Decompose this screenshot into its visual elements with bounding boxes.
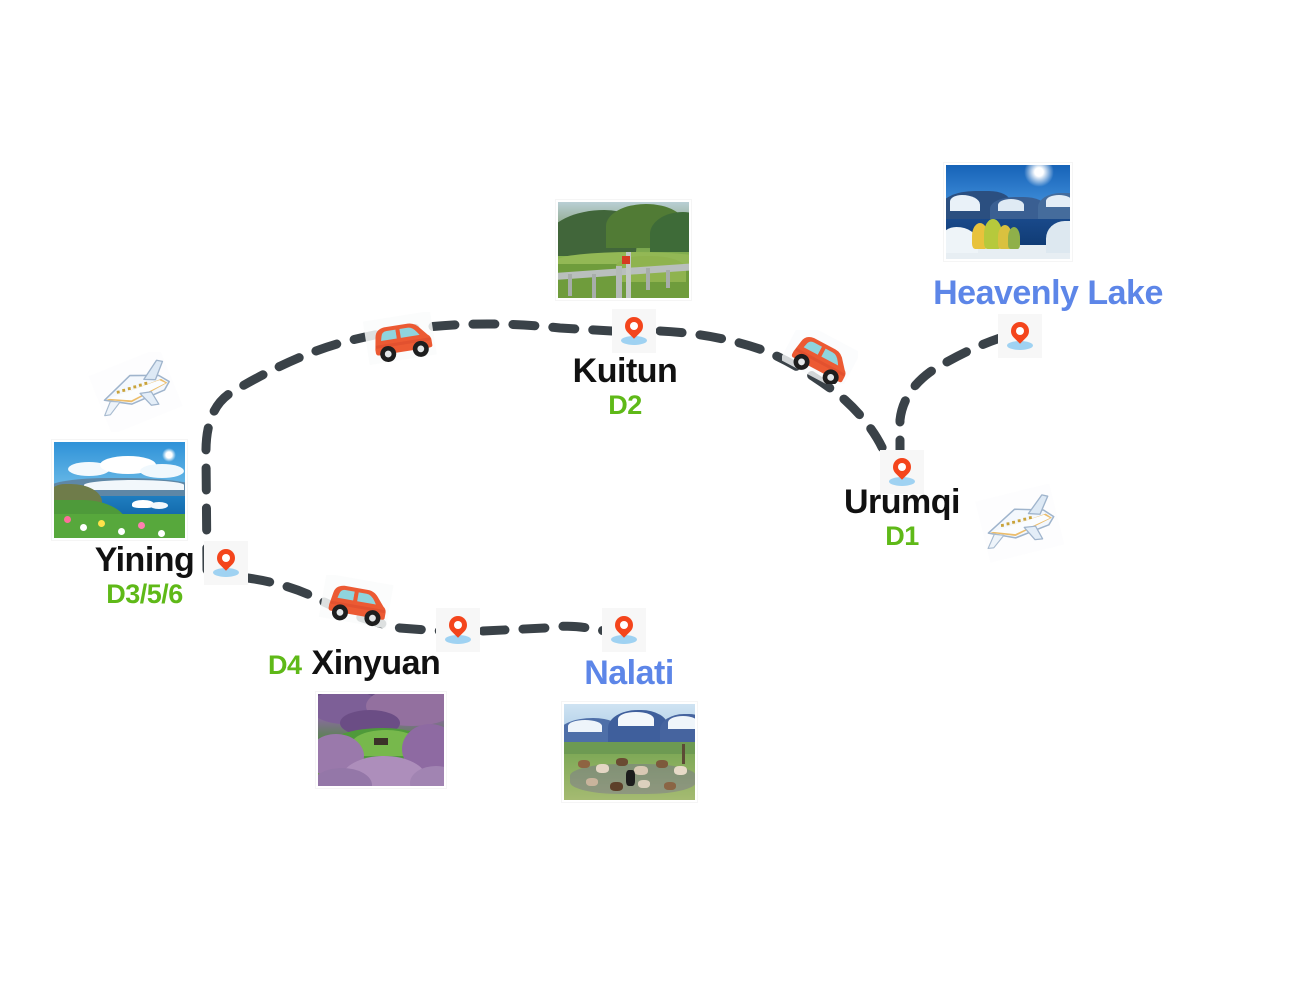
- marker-xinyuan[interactable]: [436, 608, 480, 652]
- label-kuitun[interactable]: Kuitun D2: [560, 352, 690, 420]
- city-name-kuitun: Kuitun: [560, 352, 690, 390]
- marker-kuitun[interactable]: [612, 309, 656, 353]
- marker-nalati[interactable]: [602, 608, 646, 652]
- pin-hole-icon: [222, 554, 230, 562]
- day-tag-kuitun: D2: [560, 390, 690, 420]
- label-heavenly-lake[interactable]: Heavenly Lake: [908, 274, 1188, 312]
- pin-hole-icon: [630, 322, 638, 330]
- pin-hole-icon: [1016, 327, 1024, 335]
- photo-xinyuan: [316, 692, 446, 788]
- day-tag-urumqi: D1: [822, 521, 982, 551]
- airplane-icon-urumqi: [972, 484, 1068, 564]
- photo-nalati: [562, 702, 697, 802]
- route-xinyuan-nalati: [483, 626, 606, 631]
- car-icon-north: [362, 312, 438, 366]
- marker-heavenly-lake[interactable]: [998, 314, 1042, 358]
- pin-hole-icon: [454, 621, 462, 629]
- city-name-yining: Yining: [72, 541, 217, 579]
- label-yining[interactable]: Yining D3/5/6: [72, 541, 217, 609]
- day-tag-xinyuan: D4: [268, 650, 302, 680]
- photo-heavenly-lake: [944, 163, 1072, 261]
- pin-hole-icon: [898, 463, 906, 471]
- day-tag-yining: D3/5/6: [72, 579, 217, 609]
- city-name-nalati: Nalati: [570, 654, 688, 692]
- route-path-layer: [0, 0, 1300, 1000]
- city-name-xinyuan: Xinyuan: [312, 644, 441, 682]
- city-name-heavenly-lake: Heavenly Lake: [908, 274, 1188, 312]
- label-xinyuan[interactable]: D4 Xinyuan: [268, 644, 440, 682]
- label-urumqi[interactable]: Urumqi D1: [822, 483, 982, 551]
- airplane-icon-yining: [88, 352, 184, 432]
- route-urumqi-heavenly-lake: [900, 338, 1000, 462]
- city-name-urumqi: Urumqi: [822, 483, 982, 521]
- photo-yining: [52, 440, 187, 540]
- car-icon-south: [318, 575, 394, 629]
- travel-route-map: Kuitun D2 Heavenly Lake Urumqi D1 Yining…: [0, 0, 1300, 1000]
- pin-hole-icon: [620, 621, 628, 629]
- label-nalati[interactable]: Nalati: [570, 654, 688, 692]
- photo-kuitun: [556, 200, 691, 300]
- car-icon-east: [782, 330, 858, 384]
